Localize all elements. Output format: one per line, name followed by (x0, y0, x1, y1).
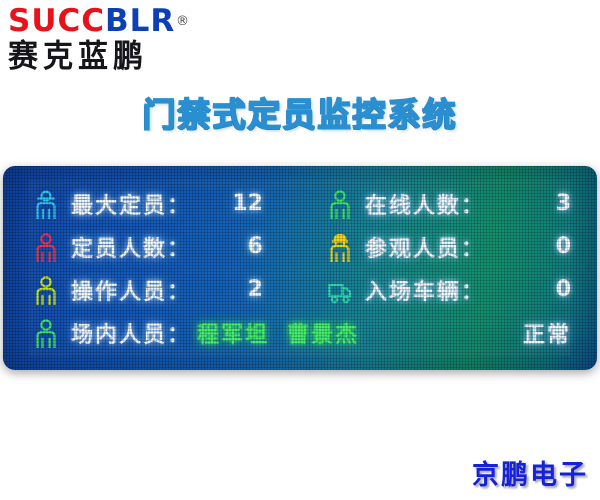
footer-brand: 京鹏电子 (472, 453, 588, 492)
logo-wordmark-succ: SUCC (8, 3, 105, 39)
onsite-names-list: 程军坦曹景杰 (197, 317, 377, 349)
led-rows-container: 最大定员： 12 在线人数： 3 (29, 180, 571, 356)
table-row: 最大定员： 12 在线人数： 3 (29, 182, 571, 225)
person-helmet-icon (327, 232, 353, 262)
registered-trademark-icon: ® (176, 5, 190, 39)
led-cell-staff-count: 定员人数： 6 (29, 231, 323, 263)
table-row: 操作人员： 2 入场车辆： 0 (29, 268, 571, 311)
led-label: 操作人员： (71, 274, 191, 306)
onsite-name: 程军坦 (197, 323, 269, 348)
truck-icon (327, 275, 353, 305)
led-label: 场内人员： (71, 317, 191, 349)
company-logo: SUCCBLR ® 赛克蓝鹏 (8, 4, 238, 76)
logo-wordmark-blr: BLR (105, 3, 175, 39)
led-label: 参观人员： (365, 231, 485, 263)
person-icon (33, 318, 59, 348)
table-row: 场内人员： 程军坦曹景杰 正常 (29, 311, 571, 354)
logo-chinese-name: 赛克蓝鹏 (8, 38, 238, 76)
led-cell-max-capacity: 最大定员： 12 (29, 188, 323, 220)
led-cell-online-count: 在线人数： 3 (323, 188, 571, 220)
led-label: 在线人数： (365, 188, 485, 220)
led-cell-visitor-count: 参观人员： 0 (323, 231, 571, 263)
led-cell-operator-count: 操作人员： 2 (29, 274, 323, 306)
person-icon (33, 232, 59, 262)
led-value: 0 (556, 234, 571, 259)
led-value: 0 (556, 277, 571, 302)
table-row: 定员人数： 6 参观人员： 0 (29, 225, 571, 268)
person-icon (327, 189, 353, 219)
led-value: 2 (248, 277, 263, 302)
person-cap-icon (33, 189, 59, 219)
status-badge: 正常 (523, 317, 571, 349)
led-cell-vehicle-count: 入场车辆： 0 (323, 274, 571, 306)
onsite-name: 曹景杰 (287, 323, 359, 348)
page-title: 门禁式定员监控系统 (0, 88, 600, 136)
led-label: 最大定员： (71, 188, 191, 220)
led-value: 3 (556, 191, 571, 216)
led-label: 定员人数： (71, 231, 191, 263)
led-value: 12 (232, 191, 263, 216)
led-value: 6 (248, 234, 263, 259)
led-cell-onsite-personnel: 场内人员： 程军坦曹景杰 正常 (29, 317, 571, 349)
led-display-screen: 最大定员： 12 在线人数： 3 (29, 180, 571, 356)
led-label: 入场车辆： (365, 274, 485, 306)
person-icon (33, 275, 59, 305)
logo-wordmark: SUCCBLR ® (8, 4, 238, 38)
led-display-panel: 最大定员： 12 在线人数： 3 (3, 166, 597, 370)
